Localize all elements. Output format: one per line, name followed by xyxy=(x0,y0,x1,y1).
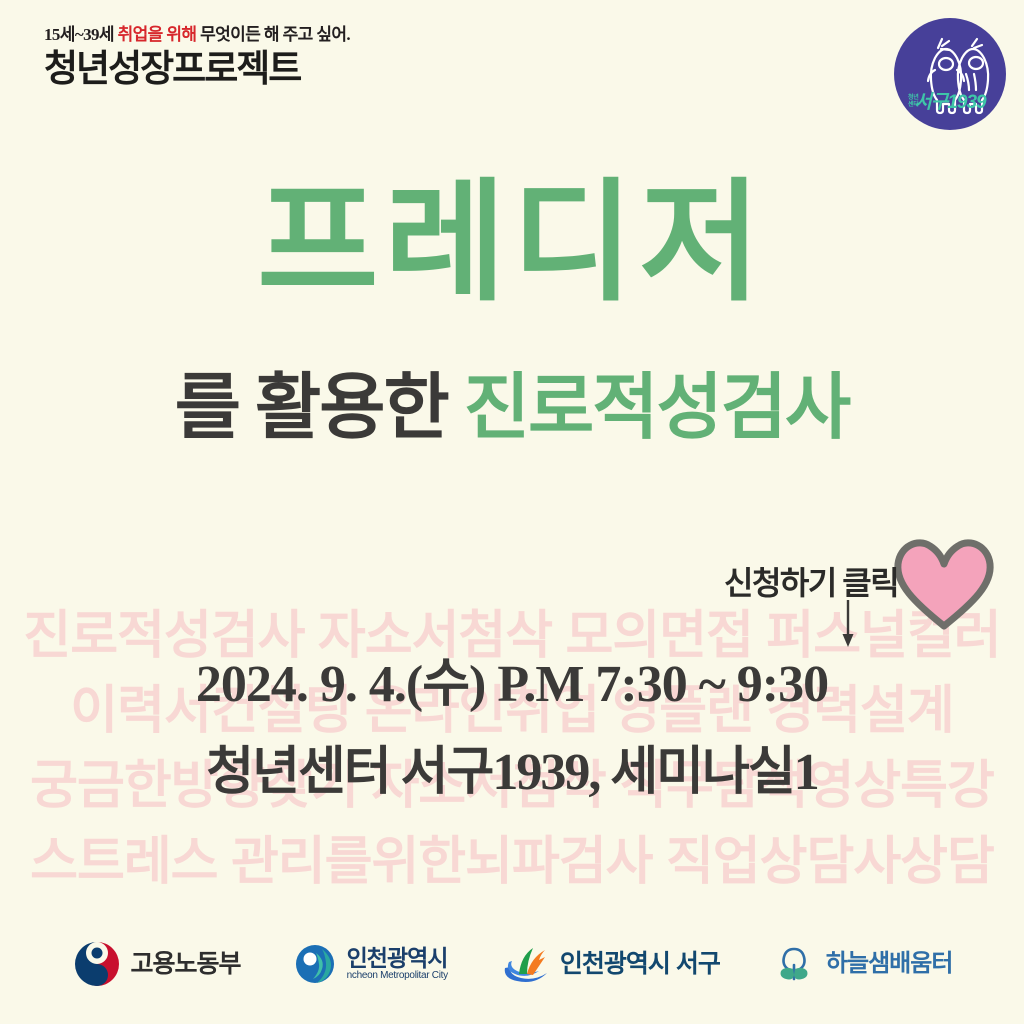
korea-government-taegeuk-icon xyxy=(72,939,122,989)
sponsor-text: 인천광역시 서구 xyxy=(560,951,720,977)
sponsor-logo-incheon: 인천광역시 ncheon Metropolitar City xyxy=(292,941,448,987)
incheon-seogu-icon xyxy=(499,942,551,986)
heart-icon xyxy=(892,536,996,632)
page-title: 프레디저 xyxy=(0,178,1024,310)
sponsor-text: 인천광역시 ncheon Metropolitar City xyxy=(347,946,448,982)
apply-label: 신청하기 클릭 xyxy=(724,558,898,604)
event-info: 2024. 9. 4.(수) P.M 7:30 ~ 9:30 청년센터 서구19… xyxy=(0,655,1024,803)
sponsor-logo-molab: 고용노동부 xyxy=(72,939,241,989)
sponsor-logo-bar: 고용노동부 인천광역시 ncheon Metropolitar City xyxy=(0,932,1024,996)
sponsor-name: 인천광역시 xyxy=(347,946,448,970)
brand-badge-wordmark: 서구1939 xyxy=(894,87,1006,114)
header-tagline-pre: 15세~39세 xyxy=(44,25,118,44)
event-datetime: 2024. 9. 4.(수) P.M 7:30 ~ 9:30 xyxy=(0,655,1024,715)
sponsor-name: 인천광역시 서구 xyxy=(560,951,720,977)
poster-header: 15세~39세 취업을 위해 무엇이든 해 주고 싶어. 청년성장프로젝트 xyxy=(44,26,374,90)
page-subtitle: 를 활용한 진로적성검사 xyxy=(0,372,1024,444)
arrow-down-icon xyxy=(840,600,856,648)
apply-call-to-action[interactable]: 신청하기 클릭 xyxy=(716,528,1006,658)
sponsor-subname: ncheon Metropolitar City xyxy=(347,971,448,982)
sponsor-text: 고용노동부 xyxy=(131,951,241,977)
sponsor-name: 하늘샘배움터 xyxy=(826,951,952,976)
sponsor-logo-haneulsaem: 하늘샘배움터 xyxy=(771,941,952,987)
incheon-city-icon xyxy=(292,941,338,987)
header-program-title: 청년성장프로젝트 xyxy=(44,51,374,90)
event-venue: 청년센터 서구1939, 세미나실1 xyxy=(0,743,1024,803)
poster-canvas: 15세~39세 취업을 위해 무엇이든 해 주고 싶어. 청년성장프로젝트 청년… xyxy=(0,0,1024,1024)
header-tagline: 15세~39세 취업을 위해 무엇이든 해 주고 싶어. xyxy=(44,26,374,45)
watermark-row: 스트레스 관리를위한뇌파검사 직업상담사상담 xyxy=(0,836,1024,888)
brand-badge: 청년센터 서구1939 xyxy=(894,18,1006,130)
header-tagline-post: 무엇이든 해 주고 싶어. xyxy=(196,25,350,44)
sponsor-logo-seogu: 인천광역시 서구 xyxy=(499,942,720,986)
page-subtitle-dark: 를 활용한 xyxy=(175,368,464,448)
page-subtitle-green: 진로적성검사 xyxy=(464,368,849,448)
sponsor-name: 고용노동부 xyxy=(131,951,241,977)
header-tagline-highlight: 취업을 위해 xyxy=(118,25,197,44)
haneulsaem-tulip-icon xyxy=(771,941,817,987)
sponsor-text: 하늘샘배움터 xyxy=(826,951,952,976)
